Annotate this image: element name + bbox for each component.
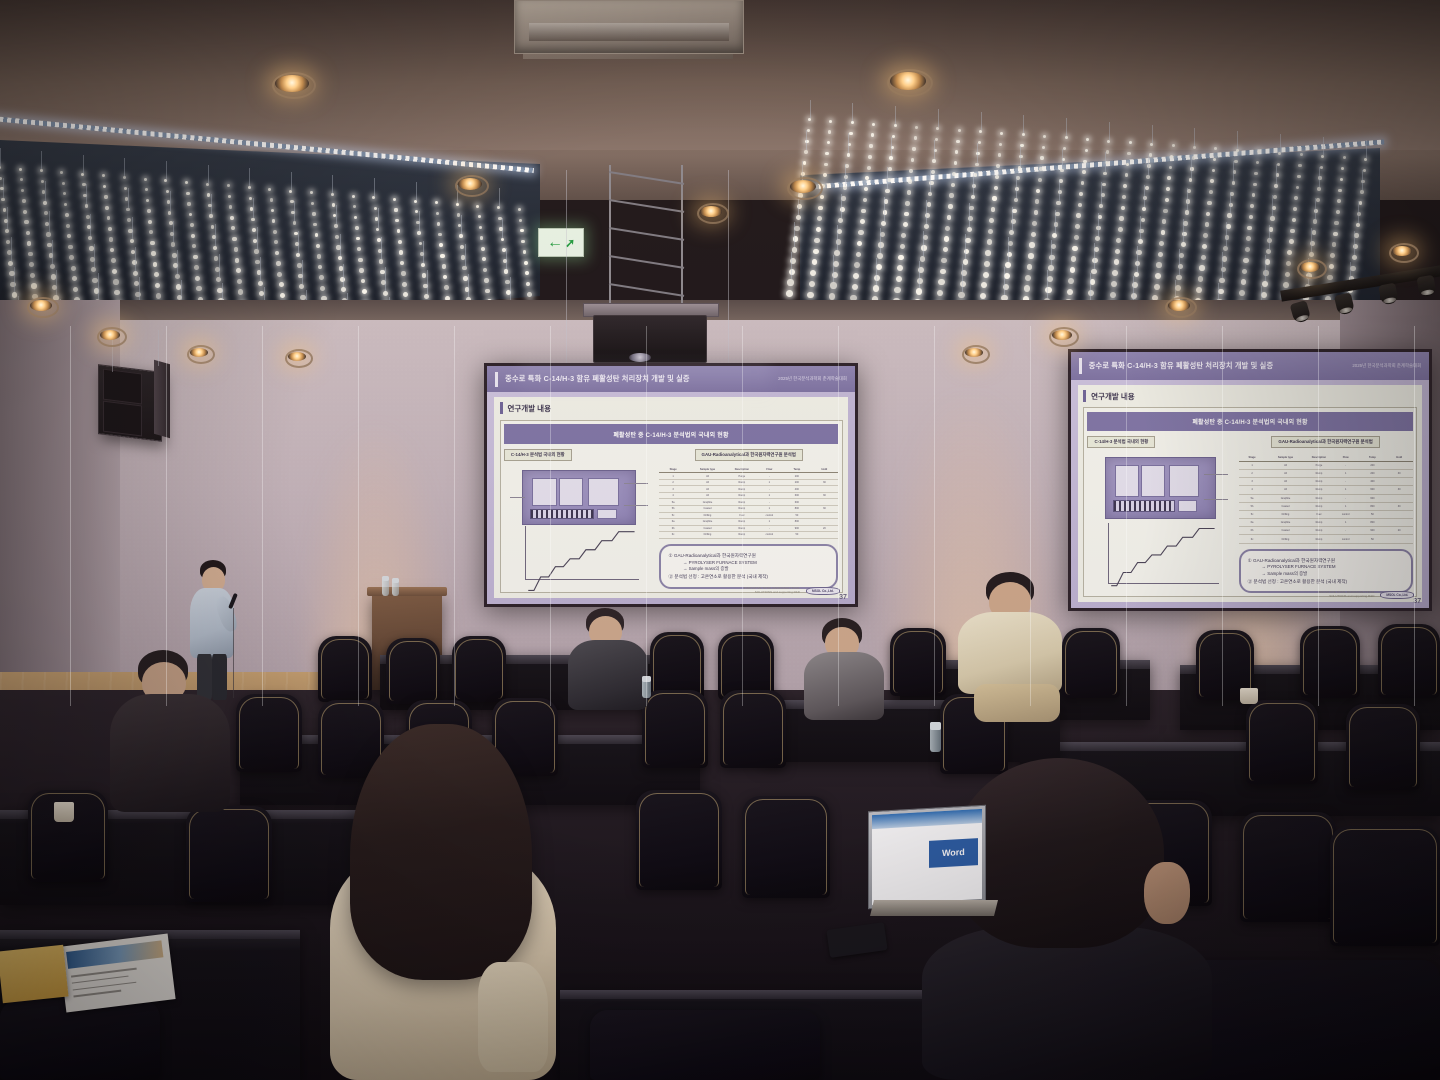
wall-panel-seam: [838, 326, 839, 706]
callout-line-4: ② 분석법 선정 : 고온연소로 활용한 분석 (국내 제작): [669, 573, 829, 580]
slide-header-title-right: 중수로 특화 C-14/H-3 함유 폐활성탄 처리장치 개발 및 실증: [1089, 361, 1274, 371]
wall-panel-seam: [742, 326, 743, 706]
projector-lens-icon: [629, 353, 651, 362]
ac-vent-icon: [514, 0, 744, 54]
chair[interactable]: [1246, 700, 1318, 784]
chair[interactable]: [318, 636, 372, 702]
chair[interactable]: [636, 790, 722, 890]
projector-lift: [585, 165, 715, 365]
slide-section-label-right: 연구개발 내용: [1091, 391, 1134, 402]
callout-line-2-right: → PYROLYSER FURNACE SYSTEM: [1248, 564, 1404, 571]
ceiling-downlight-8: [1168, 300, 1190, 311]
slide-card-band-right: 폐활성탄 중 C-14/H-3 분석법의 국내외 현황: [1087, 412, 1412, 431]
slide-callout-box: ① GAU-Radioanalytical과 한국원자력연구원 → PYROLY…: [659, 544, 838, 588]
callout-line-4-right: ② 분석법 선정 : 고온연소로 활용한 분석 (국내 제작): [1248, 578, 1404, 585]
person-attendee-center-woman: [318, 724, 568, 1080]
slide-right: 중수로 특화 C-14/H-3 함유 폐활성탄 처리장치 개발 및 실증 202…: [1071, 352, 1429, 608]
exit-arrow-icon: ←: [547, 234, 563, 252]
callout-line-3: → Sample mass의 증발: [669, 566, 829, 573]
apparatus-diagram: [522, 470, 635, 525]
laptop-screen[interactable]: Word: [868, 805, 986, 910]
attendee-torso: [110, 694, 230, 812]
chart-step-line: [526, 526, 639, 594]
water-bottle-audience[interactable]: [930, 722, 941, 752]
line-array-speaker-left: [98, 364, 162, 442]
chair[interactable]: [590, 1010, 820, 1080]
slide-callout-box-right: ① GAU-Radioanalytical과 한국원자력연구원 → PYROLY…: [1239, 549, 1413, 593]
slide-left-tag-right: C-14/H-3 분석법 국내외 현황: [1087, 436, 1155, 448]
laptop-user-ear-face: [1144, 862, 1190, 924]
temperature-profile-chart: [525, 526, 639, 580]
slide-left-tag: C-14/H-3 분석법 국내외 현황: [504, 449, 572, 461]
person-attendee-mid-right: [800, 618, 888, 718]
wall-panel-seam: [1030, 326, 1031, 706]
wall-panel-seam: [1126, 326, 1127, 706]
ceiling-downlight-3: [790, 180, 816, 193]
wall-panel-seam: [1414, 326, 1415, 706]
laptop-keyboard[interactable]: [870, 900, 998, 916]
projection-screen-right: 중수로 특화 C-14/H-3 함유 폐활성탄 처리장치 개발 및 실증 202…: [1068, 349, 1432, 611]
exit-sign: ← ➚: [538, 228, 584, 257]
chair[interactable]: [1378, 624, 1440, 698]
slide-header-subtitle: 2025년 한국분석과학회 춘계학술대회: [778, 376, 847, 382]
chair[interactable]: [1300, 626, 1360, 698]
slide-page-number: 37: [839, 594, 847, 601]
ceiling-downlight-4: [30, 300, 52, 311]
ceiling-downlight-6: [190, 348, 208, 357]
chair[interactable]: [1240, 812, 1336, 922]
person-attendee-mid-left: [562, 608, 652, 708]
paper-cup[interactable]: [54, 802, 74, 822]
wall-panel-seam: [934, 326, 935, 706]
slide-footer-logo-right: MSOL Co.,Ltd.: [1380, 591, 1414, 599]
slide-right-tag-right: GAU-Radioanalytical과 한국원자력연구원 분석법: [1271, 436, 1379, 448]
slide-right-tag: GAU-Radioanalytical과 한국원자력연구원 분석법: [695, 449, 803, 461]
ceiling-downlight-5: [100, 330, 120, 340]
ceiling-downlight-0: [275, 75, 309, 92]
conference-booklet[interactable]: [58, 934, 175, 1013]
ceiling-downlight-7: [288, 352, 306, 361]
slide-left: 중수로 특화 C-14/H-3 함유 폐활성탄 처리장치 개발 및 실증 202…: [487, 366, 855, 604]
woman-long-hair: [350, 724, 532, 980]
callout-line-1: ① GAU-Radioanalytical과 한국원자력연구원: [669, 552, 829, 559]
word-splash-screen: Word: [929, 838, 977, 868]
slide-section-label: 연구개발 내용: [508, 403, 551, 414]
ceiling-downlight-11: [700, 206, 722, 217]
water-bottle-2: [392, 578, 399, 596]
ceiling-downlight-13: [1392, 246, 1412, 256]
chair[interactable]: [386, 638, 440, 704]
analysis-method-table-right: StageSample type DescriptionFlow TempHol…: [1239, 454, 1413, 544]
wall-panel-seam: [454, 326, 455, 706]
cup-on-table-right[interactable]: [1240, 688, 1258, 704]
chair[interactable]: [186, 806, 272, 902]
woman-arm: [478, 962, 548, 1072]
orange-folder[interactable]: [0, 945, 69, 1004]
slide-card-band: 폐활성탄 중 C-14/H-3 분석법의 국내외 현황: [504, 424, 838, 444]
chair[interactable]: [0, 1000, 160, 1080]
slide-header-title: 중수로 특화 C-14/H-3 함유 폐활성탄 처리장치 개발 및 실증: [505, 374, 690, 384]
chair[interactable]: [1346, 704, 1420, 790]
person-attendee-front-left: [104, 650, 234, 810]
slide-footer-logo: MSOL Co.,Ltd.: [806, 587, 840, 595]
wall-panel-seam: [1222, 326, 1223, 706]
wall-panel-seam: [1318, 326, 1319, 706]
wall-panel-seam: [70, 326, 71, 706]
ceiling-downlight-10: [965, 348, 983, 357]
slide-header-subtitle-right: 2025년 한국분석과학회 춘계학술대회: [1352, 363, 1421, 369]
ceiling-downlight-1: [890, 72, 926, 90]
conference-hall-photo: ← ➚ 중수로 특화 C-14/H-3 함유 폐: [0, 0, 1440, 1080]
chair[interactable]: [890, 628, 946, 696]
analysis-method-table: StageSample type DescriptionFlow TempHol…: [659, 467, 838, 539]
chair[interactable]: [236, 694, 302, 772]
projection-screen-left: 중수로 특화 C-14/H-3 함유 폐활성탄 처리장치 개발 및 실증 202…: [484, 363, 858, 607]
ceiling-downlight-12: [1300, 262, 1320, 272]
slide-footer-line2-right: SOLUTIONS and supporting R&D: [1318, 595, 1374, 599]
ceiling-downlight-2: [458, 178, 482, 190]
callout-line-1-right: ① GAU-Radioanalytical과 한국원자력연구원: [1248, 557, 1404, 564]
callout-line-3-right: → Sample mass의 증발: [1248, 571, 1404, 578]
chair[interactable]: [742, 796, 830, 898]
wall-panel-seam: [550, 326, 551, 706]
chair[interactable]: [452, 636, 506, 702]
stage-track-lights: [1280, 270, 1440, 360]
chair[interactable]: [720, 690, 786, 768]
wall-panel-seam: [262, 326, 263, 706]
apparatus-diagram-right: [1105, 457, 1215, 518]
ceiling-downlight-9: [1052, 330, 1072, 340]
chair[interactable]: [1330, 826, 1440, 946]
wall-panel-seam: [646, 326, 647, 706]
chair[interactable]: [1180, 960, 1440, 1080]
temperature-profile-chart-right: [1108, 523, 1219, 583]
person-attendee-right-tan: [952, 572, 1072, 722]
water-bottle-1: [382, 576, 389, 596]
slide-footer-line2: SOLUTIONS and supporting R&D: [744, 591, 800, 595]
laptop-user-torso: [922, 926, 1212, 1080]
wall-panel-seam: [358, 326, 359, 706]
wall-panel-seam: [166, 326, 167, 706]
